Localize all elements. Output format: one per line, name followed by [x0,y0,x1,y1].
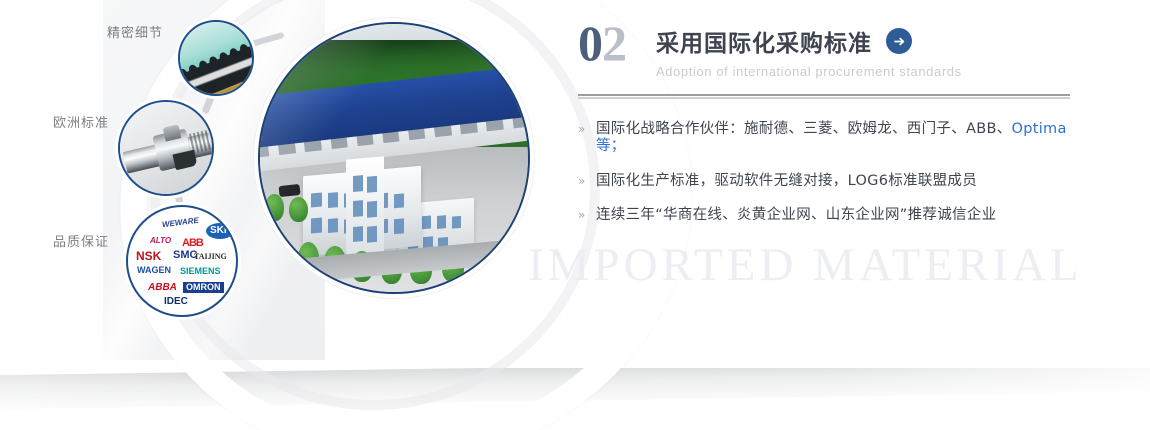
bullet-text-2: 国际化生产标准，驱动软件无缝对接，LOG6标准联盟成员 [596,173,977,190]
photo-gloss [260,24,528,292]
factory-aerial-photo [258,22,530,294]
brand-logo-skf: SKF [206,223,234,239]
brand-logo-collage: WEWARE SKF ALTO ABB NSK SMC TAIJING WAGE… [128,207,236,315]
list-item: » 国际化生产标准，驱动软件无缝对接，LOG6标准联盟成员 [578,173,1078,190]
caption-precision-detail: 精密细节 [107,22,163,41]
brand-logo-omron: OMRON [183,282,224,293]
bullet-chevron-icon: » [578,175,596,187]
bullet-text-3: 连续三年“华商在线、炎黄企业网、山东企业网”推荐诚信企业 [596,207,996,224]
bullet-list: » 国际化战略合作伙伴：施耐德、三菱、欧姆龙、西门子、ABB、Optima等； … [578,121,1078,225]
brand-logo-abba: ABBA [148,283,177,293]
brand-logo-siemens: SIEMENS [180,267,221,276]
list-item: » 国际化战略合作伙伴：施耐德、三菱、欧姆龙、西门子、ABB、Optima等； [578,121,1078,156]
brand-logo-abb: ABB [182,238,203,249]
section-number: 02 [578,18,626,68]
divider-line-bottom [578,97,1070,99]
section-number-wrap: 02 [578,22,656,80]
caption-european-standard: 欧洲标准 [53,112,109,131]
circle-precision-detail [178,20,254,96]
list-item: » 连续三年“华商在线、炎黄企业网、山东企业网”推荐诚信企业 [578,207,1078,224]
brand-logo-alto: ALTO [150,237,171,245]
section-title-en: Adoption of international procurement st… [656,64,962,79]
divider-line-top [578,94,1070,96]
brand-logo-taijing: TAIJING [194,253,227,261]
section-number-digit-2: 2 [602,15,626,71]
brand-logo-nsk: NSK [136,250,161,262]
bullet-chevron-icon: » [578,209,596,221]
circle-quality-brands: WEWARE SKF ALTO ABB NSK SMC TAIJING WAGE… [126,205,238,317]
circle-european-standard [118,100,214,196]
page-stage: WEWARE SKF ALTO ABB NSK SMC TAIJING WAGE… [0,0,1150,430]
brand-logo-weware: WEWARE [162,217,200,229]
bullet-chevron-icon: » [578,123,596,135]
section-titles: 采用国际化采购标准 Adoption of international proc… [656,22,962,79]
section-title-cn: 采用国际化采购标准 [656,24,872,58]
section-title-cn-row: 采用国际化采购标准 [656,24,962,58]
bullet-text-1: 国际化战略合作伙伴：施耐德、三菱、欧姆龙、西门子、ABB、Optima等； [596,121,1078,156]
arrow-right-icon[interactable] [886,28,912,54]
watermark-text: IMPORTED MATERIAL [528,238,1083,292]
brand-logo-idec: IDEC [164,297,188,307]
bullet-text-1-main: 国际化战略合作伙伴：施耐德、三菱、欧姆龙、西门子、ABB、 [596,121,1012,137]
content-column: 02 采用国际化采购标准 Adoption of international p… [578,22,1078,242]
brand-logo-wagen: WAGEN [137,266,171,275]
section-header: 02 采用国际化采购标准 Adoption of international p… [578,22,1078,80]
caption-quality-assurance: 品质保证 [53,231,109,250]
header-divider [578,94,1070,99]
section-number-digit-1: 0 [578,15,602,71]
